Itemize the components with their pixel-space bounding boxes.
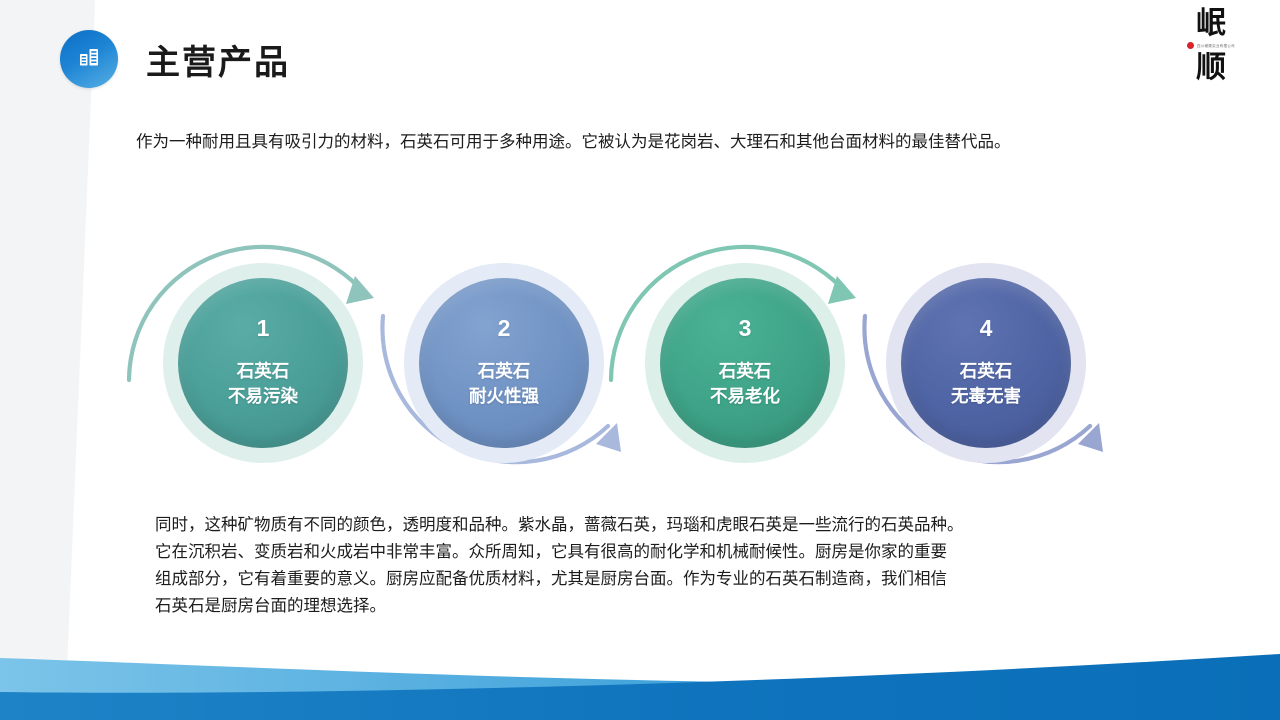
logo-char-bottom: 顺: [1168, 52, 1254, 84]
body-line-4: 石英石是厨房台面的理想选择。: [155, 593, 1090, 620]
body-line-1: 同时，这种矿物质有不同的颜色，透明度和品种。紫水晶，蔷薇石英，玛瑙和虎眼石英是一…: [155, 512, 1090, 539]
body-line-2: 它在沉积岩、变质岩和火成岩中非常丰富。众所周知，它具有很高的耐化学和机械耐候性。…: [155, 539, 1090, 566]
slide-canvas: 主营产品 岷 四川岷顺实业有限公司 顺 作为一种耐用且具有吸引力的材料，石英石可…: [0, 0, 1280, 720]
company-logo: 岷 四川岷顺实业有限公司 顺: [1168, 8, 1254, 83]
node-number-4: 4: [980, 317, 993, 340]
body-paragraph: 同时，这种矿物质有不同的颜色，透明度和品种。紫水晶，蔷薇石英，玛瑙和虎眼石英是一…: [155, 512, 1090, 620]
node-label-2: 石英石 耐火性强: [469, 359, 539, 409]
node-number-1: 1: [257, 317, 270, 340]
node-label-3: 石英石 不易老化: [710, 359, 780, 409]
node-number-2: 2: [498, 317, 511, 340]
process-node-1[interactable]: 1 石英石 不易污染: [150, 250, 376, 476]
node-disc-1: 1 石英石 不易污染: [178, 278, 348, 448]
process-node-3[interactable]: 3 石英石 不易老化: [632, 250, 858, 476]
body-line-3: 组成部分，它有着重要的意义。厨房应配备优质材料，尤其是厨房台面。作为专业的石英石…: [155, 566, 1090, 593]
logo-middle-row: 四川岷顺实业有限公司: [1168, 41, 1254, 51]
logo-char-top: 岷: [1168, 8, 1254, 40]
node-label-4: 石英石 无毒无害: [951, 359, 1021, 409]
process-node-4[interactable]: 4 石英石 无毒无害: [873, 250, 1099, 476]
bottom-wave-decoration: [0, 610, 1280, 720]
intro-paragraph: 作为一种耐用且具有吸引力的材料，石英石可用于多种用途。它被认为是花岗岩、大理石和…: [136, 128, 1136, 156]
node-disc-3: 3 石英石 不易老化: [660, 278, 830, 448]
header-badge: [60, 30, 118, 88]
node-number-3: 3: [739, 317, 752, 340]
node-label-1: 石英石 不易污染: [228, 359, 298, 409]
node-disc-4: 4 石英石 无毒无害: [901, 278, 1071, 448]
process-diagram: 1 石英石 不易污染 2 石英石 耐火性强 3: [150, 228, 1130, 498]
logo-subtext: 四川岷顺实业有限公司: [1197, 43, 1235, 48]
process-node-2[interactable]: 2 石英石 耐火性强: [391, 250, 617, 476]
page-header: 主营产品: [60, 30, 290, 88]
logo-red-dot-icon: [1187, 42, 1194, 49]
building-chart-icon: [76, 44, 102, 75]
node-disc-2: 2 石英石 耐火性强: [419, 278, 589, 448]
page-title: 主营产品: [146, 35, 290, 84]
